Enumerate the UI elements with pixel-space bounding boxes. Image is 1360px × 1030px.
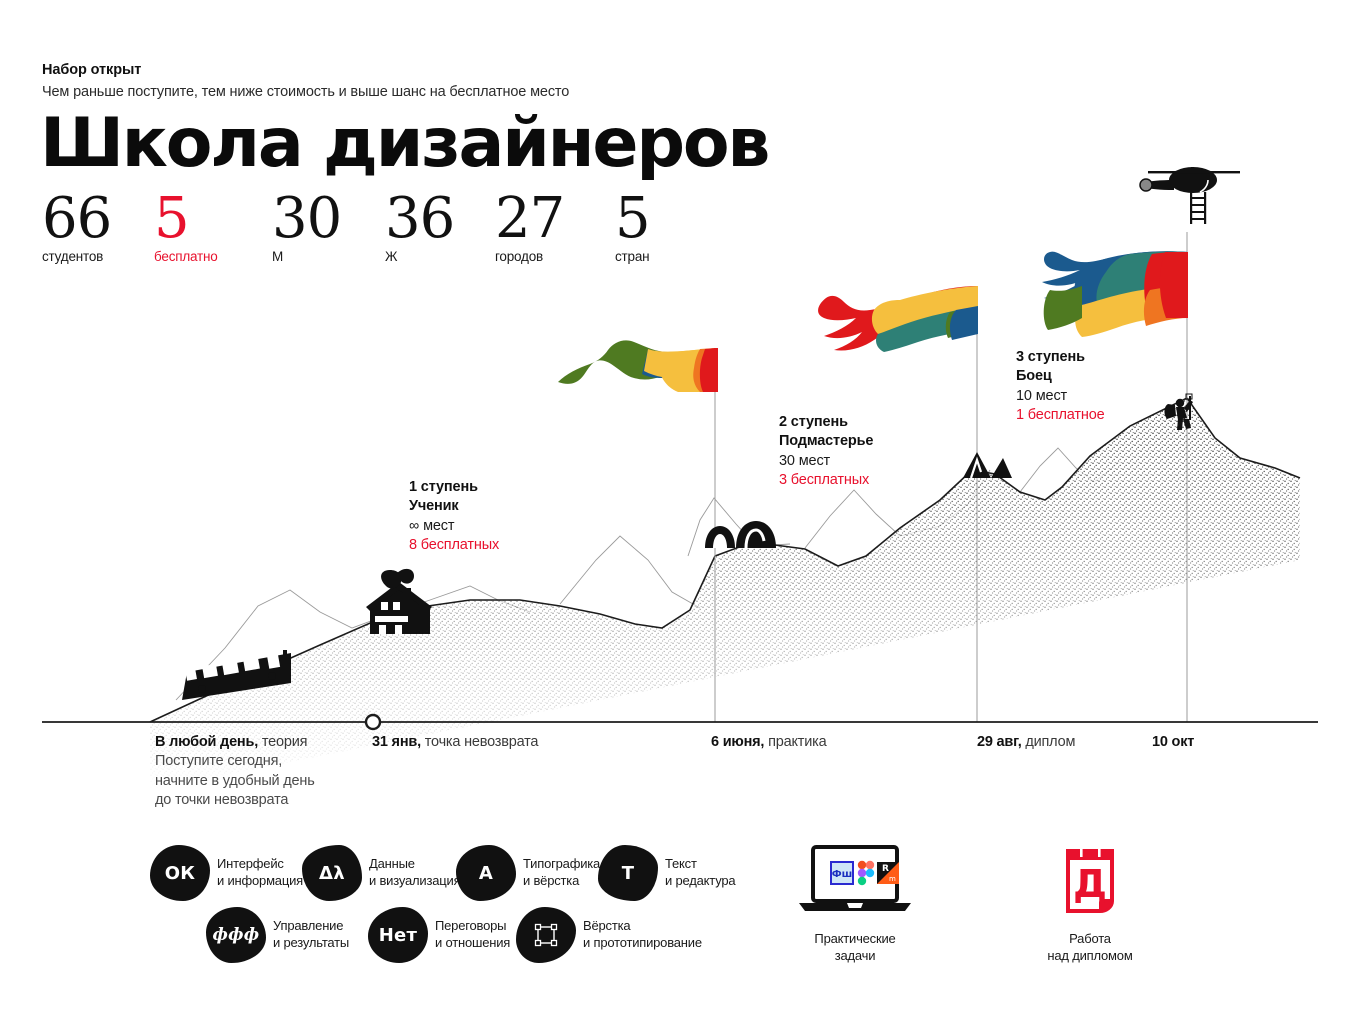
stat-students: 66 студентов bbox=[42, 192, 154, 264]
stage-seats: 10 мест bbox=[1016, 387, 1105, 406]
data-blob-icon: Δλ bbox=[302, 845, 362, 901]
course-label: Вёрстка и прототипирование bbox=[583, 918, 702, 951]
svg-text:R: R bbox=[882, 864, 889, 874]
stat-female: 36 Ж bbox=[385, 192, 495, 264]
stat-value: 5 bbox=[615, 192, 705, 245]
stat-label: Ж bbox=[385, 249, 495, 264]
diploma-block: Д Работа над дипломом bbox=[995, 845, 1185, 965]
stage-number: 2 ступень bbox=[779, 413, 873, 432]
stage-seats: ∞ мест bbox=[409, 517, 499, 536]
typography-blob-icon: А bbox=[456, 845, 516, 901]
stat-countries: 5 стран bbox=[615, 192, 705, 264]
stage-name: Ученик bbox=[409, 497, 499, 516]
practice-block: Фш R m Практические задачи bbox=[760, 845, 950, 965]
stage-free: 1 бесплатное bbox=[1016, 406, 1105, 425]
stat-cities: 27 городов bbox=[495, 192, 615, 264]
course-label: Данные и визуализация bbox=[369, 856, 460, 889]
climber-icon bbox=[1164, 394, 1193, 430]
course-list: ОК Интерфейс и информация Δλ Данные и ви… bbox=[150, 845, 750, 975]
terrain-crest-line bbox=[150, 398, 1300, 722]
stage-free: 3 бесплатных bbox=[779, 471, 873, 490]
stage-free: 8 бесплатных bbox=[409, 536, 499, 555]
course-label: Переговоры и отношения bbox=[435, 918, 510, 951]
course-interface[interactable]: ОК Интерфейс и информация bbox=[150, 845, 303, 901]
practice-caption: Практические задачи bbox=[760, 931, 950, 965]
funicular-train-icon bbox=[182, 650, 291, 700]
timeline-label-jun6: 6 июня, практика bbox=[711, 733, 826, 752]
stage-seats: 30 мест bbox=[779, 452, 873, 471]
stat-free: 5 бесплатно bbox=[154, 192, 272, 264]
stat-label: бесплатно bbox=[154, 249, 272, 264]
timeline-label-oct10: 10 окт bbox=[1152, 733, 1194, 752]
timeline-label-jan31: 31 янв, точка невозврата bbox=[372, 733, 538, 752]
stat-value: 27 bbox=[495, 192, 615, 245]
stat-male: 30 М bbox=[272, 192, 385, 264]
page-title: Школа дизайнеров bbox=[40, 110, 768, 178]
course-label: Текст и редактура bbox=[665, 856, 735, 889]
flag-stage-2-icon bbox=[818, 286, 978, 352]
course-label: Типографика и вёрстка bbox=[523, 856, 600, 889]
stage-number: 1 ступень bbox=[409, 478, 499, 497]
background-ridge bbox=[176, 448, 1120, 700]
diploma-caption: Работа над дипломом bbox=[995, 931, 1185, 965]
course-label: Управление и результаты bbox=[273, 918, 349, 951]
course-management[interactable]: ффф Управление и результаты bbox=[206, 907, 349, 963]
course-data[interactable]: Δλ Данные и визуализация bbox=[302, 845, 460, 901]
eyebrow-subtitle: Чем раньше поступите, тем ниже стоимость… bbox=[42, 84, 569, 100]
stat-value: 30 bbox=[272, 192, 385, 245]
laptop-icon: Фш R m bbox=[795, 845, 915, 917]
flag-stage-3-icon bbox=[1042, 251, 1188, 337]
stage-annotation-1: 1 ступень Ученик ∞ мест 8 бесплатных bbox=[409, 478, 499, 555]
management-blob-icon: ффф bbox=[206, 907, 266, 963]
svg-text:Фш: Фш bbox=[832, 869, 853, 880]
course-typography[interactable]: А Типографика и вёрстка bbox=[456, 845, 600, 901]
timeline-sub: Поступите сегодня, начните в удобный ден… bbox=[155, 752, 315, 810]
timeline-label-aug29: 29 авг, диплом bbox=[977, 733, 1075, 752]
stat-value: 36 bbox=[385, 192, 495, 245]
course-label: Интерфейс и информация bbox=[217, 856, 303, 889]
bounding-box-icon bbox=[534, 923, 558, 947]
timeline-label-anyday: В любой день, теория Поступите сегодня, … bbox=[155, 733, 315, 810]
stat-label: стран bbox=[615, 249, 705, 264]
flag-stage-1-icon bbox=[558, 340, 718, 392]
stat-value: 5 bbox=[154, 192, 272, 245]
stat-label: городов bbox=[495, 249, 615, 264]
layout-blob-icon bbox=[516, 907, 576, 963]
svg-text:Д: Д bbox=[1073, 862, 1107, 906]
ok-blob-icon: ОК bbox=[150, 845, 210, 901]
house-icon bbox=[366, 569, 432, 634]
text-blob-icon: Т bbox=[598, 845, 658, 901]
stat-value: 66 bbox=[42, 192, 154, 245]
timeline-date: В любой день, теория bbox=[155, 734, 307, 750]
eyebrow-heading: Набор открыт bbox=[42, 62, 141, 78]
course-layout[interactable]: Вёрстка и прототипирование bbox=[516, 907, 702, 963]
stage-name: Боец bbox=[1016, 367, 1105, 386]
timeline-point-of-no-return-marker[interactable] bbox=[366, 715, 380, 729]
stage-annotation-2: 2 ступень Подмастерье 30 мест 3 бесплатн… bbox=[779, 413, 873, 490]
stats-row: 66 студентов 5 бесплатно 30 М 36 Ж 27 го… bbox=[42, 192, 705, 264]
course-text[interactable]: Т Текст и редактура bbox=[598, 845, 735, 901]
calendar-icon: Д bbox=[1054, 845, 1126, 917]
stat-label: М bbox=[272, 249, 385, 264]
helicopter-icon bbox=[1140, 167, 1240, 224]
stage-name: Подмастерье bbox=[779, 432, 873, 451]
stage-number: 3 ступень bbox=[1016, 348, 1105, 367]
tent-group-stage2-icon bbox=[705, 521, 776, 548]
tent-stage3-icon bbox=[963, 452, 1012, 478]
stage-annotation-3: 3 ступень Боец 10 мест 1 бесплатное bbox=[1016, 348, 1105, 425]
svg-text:m: m bbox=[889, 875, 896, 883]
stat-label: студентов bbox=[42, 249, 154, 264]
negotiation-blob-icon: Нет bbox=[368, 907, 428, 963]
course-negotiation[interactable]: Нет Переговоры и отношения bbox=[368, 907, 510, 963]
